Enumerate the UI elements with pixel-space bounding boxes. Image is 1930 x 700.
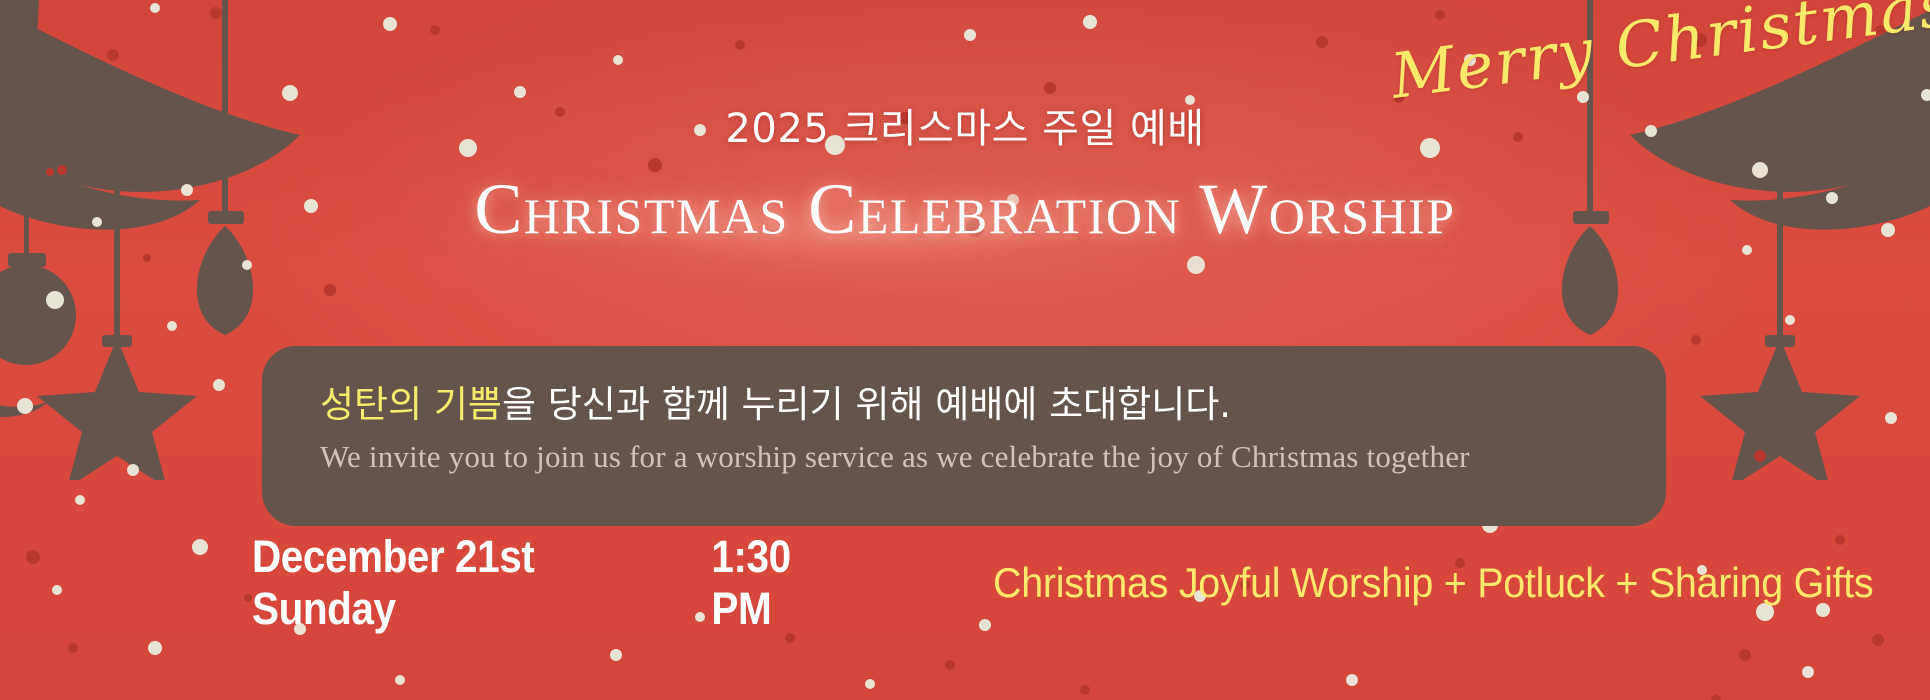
star-ornament <box>37 338 197 480</box>
invitation-box: 성탄의 기쁨을 당신과 함께 누리기 위해 예배에 초대합니다. We invi… <box>262 346 1666 526</box>
invitation-korean-rest: 을 당신과 함께 누리기 위해 예배에 초대합니다. <box>502 383 1231 426</box>
invitation-korean: 성탄의 기쁨을 당신과 함께 누리기 위해 예배에 초대합니다. <box>262 374 1666 428</box>
star-ornament-right <box>1700 338 1860 480</box>
star-ornament-cap <box>102 335 132 347</box>
invitation-english: We invite you to join us for a worship s… <box>262 439 1666 475</box>
christmas-worship-banner: 2025 크리스마스 주일 예배 Christmas Celebration W… <box>0 0 1930 700</box>
ball-ornament-cap <box>8 253 46 267</box>
star-ornament-cap-right <box>1765 335 1795 347</box>
invitation-korean-highlight: 성탄의 기쁨 <box>320 383 502 426</box>
footer-row: December 21st Sunday 1:30 PM Christmas J… <box>0 548 1930 618</box>
ball-ornament <box>0 265 76 365</box>
date-time-group: December 21st Sunday 1:30 PM <box>252 531 860 635</box>
page-title: Christmas Celebration Worship <box>0 168 1930 251</box>
event-date: December 21st Sunday <box>252 531 684 635</box>
event-program: Christmas Joyful Worship + Potluck + Sha… <box>993 559 1873 607</box>
event-time: 1:30 PM <box>711 531 859 635</box>
left-branch-tail <box>0 398 48 417</box>
